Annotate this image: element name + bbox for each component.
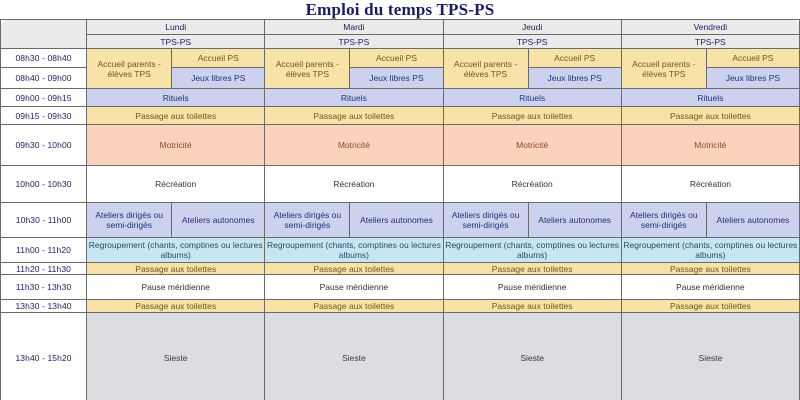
cell-toilettes-midi-jeudi: Passage aux toilettes	[443, 263, 621, 275]
header-row-days: Lundi Mardi Jeudi Vendredi	[1, 20, 800, 35]
cell-sieste-jeudi: Sieste	[443, 313, 621, 400]
cell-jeux-libres-jeudi: Jeux libres PS	[528, 68, 621, 89]
table-row: 11h00 - 11h20 Regroupement (chants, comp…	[1, 238, 800, 263]
day-subtitle-jeudi: TPS-PS	[443, 35, 621, 49]
cell-accueil-ps-vendredi: Accueil PS	[706, 49, 799, 68]
cell-regroupement-jeudi: Regroupement (chants, comptines ou lectu…	[443, 238, 621, 263]
cell-toilettes-midi-mardi: Passage aux toilettes	[265, 263, 443, 275]
cell-jeux-libres-lundi: Jeux libres PS	[172, 68, 265, 89]
table-row: 13h40 - 15h20 Sieste Sieste Sieste Siest…	[1, 313, 800, 400]
time-label-1330: 13h30 - 13h40	[1, 300, 87, 313]
cell-regroupement-mardi: Regroupement (chants, comptines ou lectu…	[265, 238, 443, 263]
cell-pause-meridienne-vendredi: Pause méridienne	[621, 275, 799, 300]
table-row: 09h30 - 10h00 Motricité Motricité Motric…	[1, 125, 800, 166]
cell-ateliers-diriges-mardi: Ateliers dirigés ou semi-dirigés	[265, 203, 350, 238]
table-row: 13h30 - 13h40 Passage aux toilettes Pass…	[1, 300, 800, 313]
day-header-mardi: Mardi	[265, 20, 443, 35]
header-row-class: TPS-PS TPS-PS TPS-PS TPS-PS	[1, 35, 800, 49]
cell-toilettes-aprem-lundi: Passage aux toilettes	[87, 300, 265, 313]
cell-motricite-lundi: Motricité	[87, 125, 265, 166]
cell-motricite-mardi: Motricité	[265, 125, 443, 166]
cell-rituels-lundi: Rituels	[87, 89, 265, 107]
time-label-0930: 09h30 - 10h00	[1, 125, 87, 166]
cell-sieste-vendredi: Sieste	[621, 313, 799, 400]
cell-accueil-ps-mardi: Accueil PS	[350, 49, 443, 68]
table-row: 10h30 - 11h00 Ateliers dirigés ou semi-d…	[1, 203, 800, 238]
cell-jeux-libres-vendredi: Jeux libres PS	[706, 68, 799, 89]
time-label-1130: 11h30 - 13h30	[1, 275, 87, 300]
cell-recreation-lundi: Récréation	[87, 166, 265, 203]
page-title: Emploi du temps TPS-PS	[0, 0, 800, 19]
table-row: 08h30 - 08h40 Accueil parents - élèves T…	[1, 49, 800, 68]
cell-jeux-libres-mardi: Jeux libres PS	[350, 68, 443, 89]
cell-toilettes-midi-vendredi: Passage aux toilettes	[621, 263, 799, 275]
table-row: 09h15 - 09h30 Passage aux toilettes Pass…	[1, 107, 800, 125]
table-row: 11h30 - 13h30 Pause méridienne Pause mér…	[1, 275, 800, 300]
time-label-1030: 10h30 - 11h00	[1, 203, 87, 238]
day-header-jeudi: Jeudi	[443, 20, 621, 35]
day-subtitle-mardi: TPS-PS	[265, 35, 443, 49]
cell-recreation-jeudi: Récréation	[443, 166, 621, 203]
cell-recreation-vendredi: Récréation	[621, 166, 799, 203]
cell-accueil-ps-jeudi: Accueil PS	[528, 49, 621, 68]
cell-rituels-vendredi: Rituels	[621, 89, 799, 107]
time-label-0900: 09h00 - 09h15	[1, 89, 87, 107]
day-header-lundi: Lundi	[87, 20, 265, 35]
cell-recreation-mardi: Récréation	[265, 166, 443, 203]
cell-sieste-mardi: Sieste	[265, 313, 443, 400]
day-subtitle-lundi: TPS-PS	[87, 35, 265, 49]
cell-pause-meridienne-jeudi: Pause méridienne	[443, 275, 621, 300]
cell-ateliers-diriges-vendredi: Ateliers dirigés ou semi-dirigés	[621, 203, 706, 238]
cell-ateliers-autonomes-mardi: Ateliers autonomes	[350, 203, 443, 238]
cell-toilettes-aprem-vendredi: Passage aux toilettes	[621, 300, 799, 313]
cell-regroupement-lundi: Regroupement (chants, comptines ou lectu…	[87, 238, 265, 263]
timetable: Lundi Mardi Jeudi Vendredi TPS-PS TPS-PS…	[0, 19, 800, 400]
cell-accueil-parents-vendredi: Accueil parents - élèves TPS	[621, 49, 706, 89]
cell-ateliers-diriges-jeudi: Ateliers dirigés ou semi-dirigés	[443, 203, 528, 238]
cell-ateliers-autonomes-vendredi: Ateliers autonomes	[706, 203, 799, 238]
cell-motricite-vendredi: Motricité	[621, 125, 799, 166]
cell-accueil-parents-jeudi: Accueil parents - élèves TPS	[443, 49, 528, 89]
table-row: 09h00 - 09h15 Rituels Rituels Rituels Ri…	[1, 89, 800, 107]
cell-toilettes-matin-vendredi: Passage aux toilettes	[621, 107, 799, 125]
cell-toilettes-aprem-mardi: Passage aux toilettes	[265, 300, 443, 313]
cell-ateliers-autonomes-lundi: Ateliers autonomes	[172, 203, 265, 238]
cell-toilettes-matin-jeudi: Passage aux toilettes	[443, 107, 621, 125]
cell-accueil-parents-lundi: Accueil parents - élèves TPS	[87, 49, 172, 89]
cell-accueil-parents-mardi: Accueil parents - élèves TPS	[265, 49, 350, 89]
cell-ateliers-diriges-lundi: Ateliers dirigés ou semi-dirigés	[87, 203, 172, 238]
cell-motricite-jeudi: Motricité	[443, 125, 621, 166]
cell-rituels-mardi: Rituels	[265, 89, 443, 107]
day-header-vendredi: Vendredi	[621, 20, 799, 35]
time-label-1120: 11h20 - 11h30	[1, 263, 87, 275]
table-row: 11h20 - 11h30 Passage aux toilettes Pass…	[1, 263, 800, 275]
cell-toilettes-matin-mardi: Passage aux toilettes	[265, 107, 443, 125]
cell-pause-meridienne-mardi: Pause méridienne	[265, 275, 443, 300]
cell-pause-meridienne-lundi: Pause méridienne	[87, 275, 265, 300]
cell-toilettes-midi-lundi: Passage aux toilettes	[87, 263, 265, 275]
time-label-1000: 10h00 - 10h30	[1, 166, 87, 203]
cell-toilettes-aprem-jeudi: Passage aux toilettes	[443, 300, 621, 313]
cell-regroupement-vendredi: Regroupement (chants, comptines ou lectu…	[621, 238, 799, 263]
cell-ateliers-autonomes-jeudi: Ateliers autonomes	[528, 203, 621, 238]
time-label-1100: 11h00 - 11h20	[1, 238, 87, 263]
day-subtitle-vendredi: TPS-PS	[621, 35, 799, 49]
header-corner	[1, 20, 87, 49]
cell-toilettes-matin-lundi: Passage aux toilettes	[87, 107, 265, 125]
time-label-0840: 08h40 - 09h00	[1, 68, 87, 89]
time-label-0915: 09h15 - 09h30	[1, 107, 87, 125]
cell-accueil-ps-lundi: Accueil PS	[172, 49, 265, 68]
time-label-1340: 13h40 - 15h20	[1, 313, 87, 400]
time-label-0830: 08h30 - 08h40	[1, 49, 87, 68]
cell-sieste-lundi: Sieste	[87, 313, 265, 400]
table-row: 10h00 - 10h30 Récréation Récréation Récr…	[1, 166, 800, 203]
cell-rituels-jeudi: Rituels	[443, 89, 621, 107]
